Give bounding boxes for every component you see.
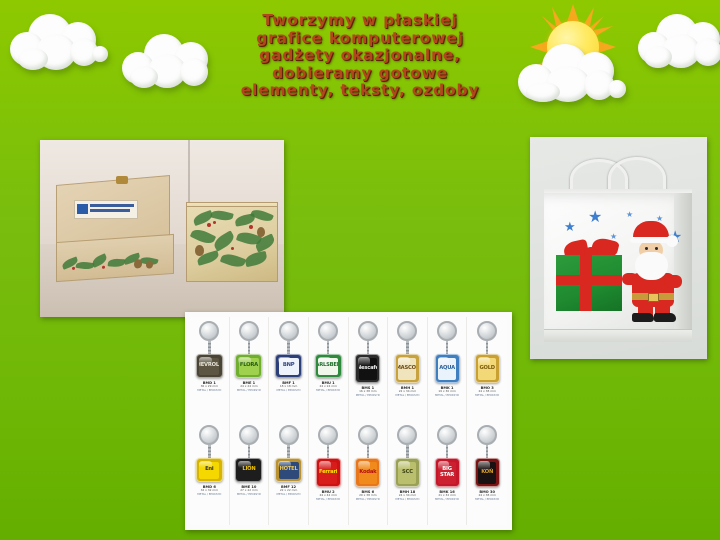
keyring-loop-icon (358, 425, 378, 445)
keyring-tag: GOLD (475, 354, 500, 383)
keyring-cell[interactable]: BNPBMF 118 x 18 mmMETAL / EPOKSYD (269, 317, 309, 421)
keyring-chain-icon (208, 445, 211, 458)
keyring-tag: Kodak (355, 458, 380, 487)
keyring-gloss (438, 461, 450, 470)
keyring-label: BMH 1824 x 34 mmMETAL / EPOKSYD (395, 490, 419, 501)
keyring-chain-icon (248, 341, 251, 354)
keyring-chain-icon (406, 445, 409, 458)
santa-belt-buckle (648, 293, 659, 302)
keyring-cell[interactable]: CHEVROLETBMD 136 x 29 mmMETAL / EPOKSYD (190, 317, 230, 421)
keyring-logo-text: CHEVROLET (199, 363, 219, 368)
keyring-logo-text: Eni (205, 467, 213, 472)
keyring-chain-icon (208, 341, 211, 354)
keyring-gloss (319, 461, 331, 470)
keyring-chain-icon (406, 341, 409, 354)
keyring-tag: LION (235, 458, 262, 482)
keyring-material: METAL / EPOKSYD (316, 389, 340, 392)
keyring-tag: Ferrari (316, 458, 341, 487)
keyring-label: BMF 1222 x 22 mmMETAL / EPOKSYD (277, 485, 301, 496)
keyring-label: BME 124 x 24 mmMETAL / EPOKSYD (237, 381, 261, 392)
keyring-loop-icon (239, 425, 259, 445)
santa-eye-right (655, 247, 658, 250)
keyring-label: BMK 119 x 30 mmMETAL / EPOKSYD (435, 386, 459, 397)
keyring-logo-text: GOLD (479, 366, 494, 371)
keyring-label: BMU 224 x 42 mmMETAL / EPOKSYD (316, 490, 340, 501)
keyring-cell[interactable]: LIONBME 1027 x 42 mmMETAL / EPOKSYD (230, 421, 270, 525)
santa-claus-illustration (622, 221, 684, 321)
keyring-material: METAL / EPOKSYD (475, 498, 499, 501)
santa-boot-left (632, 313, 654, 322)
keyring-cell[interactable]: MASCOTBMH 122 x 34 mmMETAL / EPOKSYD (388, 317, 428, 421)
keyring-material: METAL / EPOKSYD (395, 394, 419, 397)
keyring-label: BMO 324 x 38 mmMETAL / EPOKSYD (475, 386, 499, 397)
cloud-top-right (638, 12, 720, 70)
keyring-tag: Eni (196, 458, 223, 482)
photo-decoupage-boxes (40, 140, 284, 317)
keyring-gloss (398, 357, 410, 366)
box-clasp-icon (116, 176, 128, 184)
closed-wooden-box (186, 206, 278, 282)
keyring-gloss (199, 357, 212, 364)
keyring-tag: Nescafé (355, 354, 380, 383)
keyring-cell[interactable]: KOŃBMO 3024 x 38 mmMETAL / EPOKSYD (467, 421, 507, 525)
keyring-material: METAL / EPOKSYD (237, 389, 261, 392)
keyring-chain-icon (327, 341, 330, 354)
keyring-cell[interactable]: NescaféBMS 116 x 38 mmMETAL / EPOKSYD (349, 317, 389, 421)
keyring-material: METAL / EPOKSYD (356, 498, 380, 501)
keyring-cell[interactable]: EniBMD 632 x 32 mmMETAL / EPOKSYD (190, 421, 230, 525)
star-icon: ★ (626, 211, 633, 219)
keyring-tag: BNP (275, 354, 302, 378)
keyring-chain-icon (367, 341, 370, 354)
keyring-material: METAL / EPOKSYD (197, 389, 221, 392)
keyring-tag: KOŃ (475, 458, 500, 487)
keyring-material: METAL / EPOKSYD (277, 493, 301, 496)
keyring-cell[interactable]: SCCBMH 1824 x 34 mmMETAL / EPOKSYD (388, 421, 428, 525)
keyring-tag: AQUA (435, 354, 460, 383)
keyring-chain-icon (287, 341, 290, 354)
keyring-logo-text: AQUA (439, 366, 455, 371)
keyring-logo-text: HOTEL (279, 467, 297, 472)
keyring-loop-icon (358, 321, 378, 341)
keyring-gloss (199, 461, 212, 468)
santa-hat-pompom (666, 235, 678, 247)
keyring-chain-icon (287, 445, 290, 458)
keyring-loop-icon (437, 321, 457, 341)
keyring-tag: HOTEL (275, 458, 302, 482)
keyring-loop-icon (199, 425, 219, 445)
keyring-gloss (478, 461, 490, 470)
keyring-logo-text: BNP (283, 363, 295, 368)
keyring-chain-icon (367, 445, 370, 458)
keyring-chain-icon (327, 445, 330, 458)
keyring-cell[interactable]: FLORABME 124 x 24 mmMETAL / EPOKSYD (230, 317, 270, 421)
box-inner-label (74, 200, 138, 219)
star-icon: ★ (564, 221, 576, 234)
keyring-tag: FLORA (235, 354, 262, 378)
keyring-loop-icon (199, 321, 219, 341)
keyring-logo-text: Kodak (359, 470, 376, 475)
keyring-cell[interactable]: FerrariBMU 224 x 42 mmMETAL / EPOKSYD (309, 421, 349, 525)
keyring-loop-icon (279, 321, 299, 341)
keyring-label: BMD 136 x 29 mmMETAL / EPOKSYD (197, 381, 221, 392)
keyring-tag: BIG STAR (435, 458, 460, 487)
keyring-grid: CHEVROLETBMD 136 x 29 mmMETAL / EPOKSYDF… (190, 317, 507, 525)
keyring-cell[interactable]: BIG STARBMK 1621 x 32 mmMETAL / EPOKSYD (428, 421, 468, 525)
keyring-material: METAL / EPOKSYD (435, 498, 459, 501)
star-icon: ★ (588, 209, 602, 225)
keyring-loop-icon (239, 321, 259, 341)
keyring-gloss (358, 357, 370, 366)
keyring-label: BMS 116 x 38 mmMETAL / EPOKSYD (356, 386, 380, 397)
keyring-loop-icon (477, 425, 497, 445)
keyring-logo-text: SCC (402, 470, 413, 475)
keyring-chain-icon (486, 341, 489, 354)
keyring-gloss (478, 357, 490, 366)
keyring-material: METAL / EPOKSYD (356, 394, 380, 397)
keyring-logo-text: LION (242, 467, 255, 472)
keyring-tag: MASCOT (395, 354, 420, 383)
keyring-label: BMS 620 x 38 mmMETAL / EPOKSYD (356, 490, 380, 501)
cloud-top-left (8, 8, 118, 70)
santa-boot-right (654, 313, 676, 322)
keyring-material: METAL / EPOKSYD (277, 389, 301, 392)
keyring-gloss (278, 357, 291, 364)
keyring-loop-icon (318, 321, 338, 341)
santa-beard (635, 252, 668, 280)
slide-canvas: Tworzymy w płaskiej grafice komputerowej… (0, 0, 720, 540)
keyring-tag: SCC (395, 458, 420, 487)
photo-santa-gift-bag: ★ ★ ★ ★ ★ ★ ★ ★ (530, 137, 707, 359)
santa-eye-left (645, 247, 648, 250)
keyring-gloss (438, 357, 450, 366)
keyring-label: BMU 124 x 24 mmMETAL / EPOKSYD (316, 381, 340, 392)
keyring-loop-icon (397, 425, 417, 445)
keyring-chain-icon (446, 445, 449, 458)
keyring-material: METAL / EPOKSYD (395, 498, 419, 501)
keyring-loop-icon (397, 321, 417, 341)
keyring-material: METAL / EPOKSYD (197, 493, 221, 496)
keyring-label: BME 1027 x 42 mmMETAL / EPOKSYD (237, 485, 261, 496)
keyring-gloss (278, 461, 291, 468)
keyring-material: METAL / EPOKSYD (237, 493, 261, 496)
keyring-gloss (358, 461, 370, 470)
photo-keyring-catalogue: CHEVROLETBMD 136 x 29 mmMETAL / EPOKSYDF… (185, 312, 512, 530)
keyring-cell[interactable]: HOTELBMF 1222 x 22 mmMETAL / EPOKSYD (269, 421, 309, 525)
keyring-cell[interactable]: CARLSBERGBMU 124 x 24 mmMETAL / EPOKSYD (309, 317, 349, 421)
santa-arm-right (664, 275, 682, 288)
keyring-logo-text: MASCOT (398, 366, 416, 371)
keyring-loop-icon (279, 425, 299, 445)
keyring-loop-icon (477, 321, 497, 341)
keyring-gloss (398, 461, 410, 470)
keyring-logo-text: KOŃ (481, 470, 493, 475)
keyring-chain-icon (486, 445, 489, 458)
keyring-label: BMD 632 x 32 mmMETAL / EPOKSYD (197, 485, 221, 496)
keyring-material: METAL / EPOKSYD (475, 394, 499, 397)
keyring-loop-icon (318, 425, 338, 445)
keyring-cell[interactable]: AQUABMK 119 x 30 mmMETAL / EPOKSYD (428, 317, 468, 421)
keyring-logo-text: CARLSBERG (318, 363, 338, 368)
bag-bottom-fold (544, 329, 692, 342)
keyring-label: BMK 1621 x 32 mmMETAL / EPOKSYD (435, 490, 459, 501)
keyring-material: METAL / EPOKSYD (316, 498, 340, 501)
keyring-cell[interactable]: GOLDBMO 324 x 38 mmMETAL / EPOKSYD (467, 317, 507, 421)
keyring-chain-icon (248, 445, 251, 458)
gift-ribbon-horizontal (556, 275, 622, 285)
keyring-gloss (318, 357, 331, 364)
keyring-logo-text: FLORA (240, 363, 258, 368)
keyring-material: METAL / EPOKSYD (435, 394, 459, 397)
keyring-gloss (238, 357, 251, 364)
keyring-gloss (238, 461, 251, 468)
keyring-logo-text: Nescafé (359, 366, 377, 371)
keyring-label: BMO 3024 x 38 mmMETAL / EPOKSYD (475, 490, 499, 501)
keyring-logo-text: Ferrari (319, 470, 337, 475)
keyring-loop-icon (437, 425, 457, 445)
keyring-label: BMH 122 x 34 mmMETAL / EPOKSYD (395, 386, 419, 397)
keyring-cell[interactable]: KodakBMS 620 x 38 mmMETAL / EPOKSYD (349, 421, 389, 525)
keyring-chain-icon (446, 341, 449, 354)
keyring-tag: CARLSBERG (315, 354, 342, 378)
keyring-label: BMF 118 x 18 mmMETAL / EPOKSYD (277, 381, 301, 392)
slide-title: Tworzymy w płaskiej grafice komputerowej… (178, 12, 542, 100)
keyring-tag: CHEVROLET (196, 354, 223, 378)
